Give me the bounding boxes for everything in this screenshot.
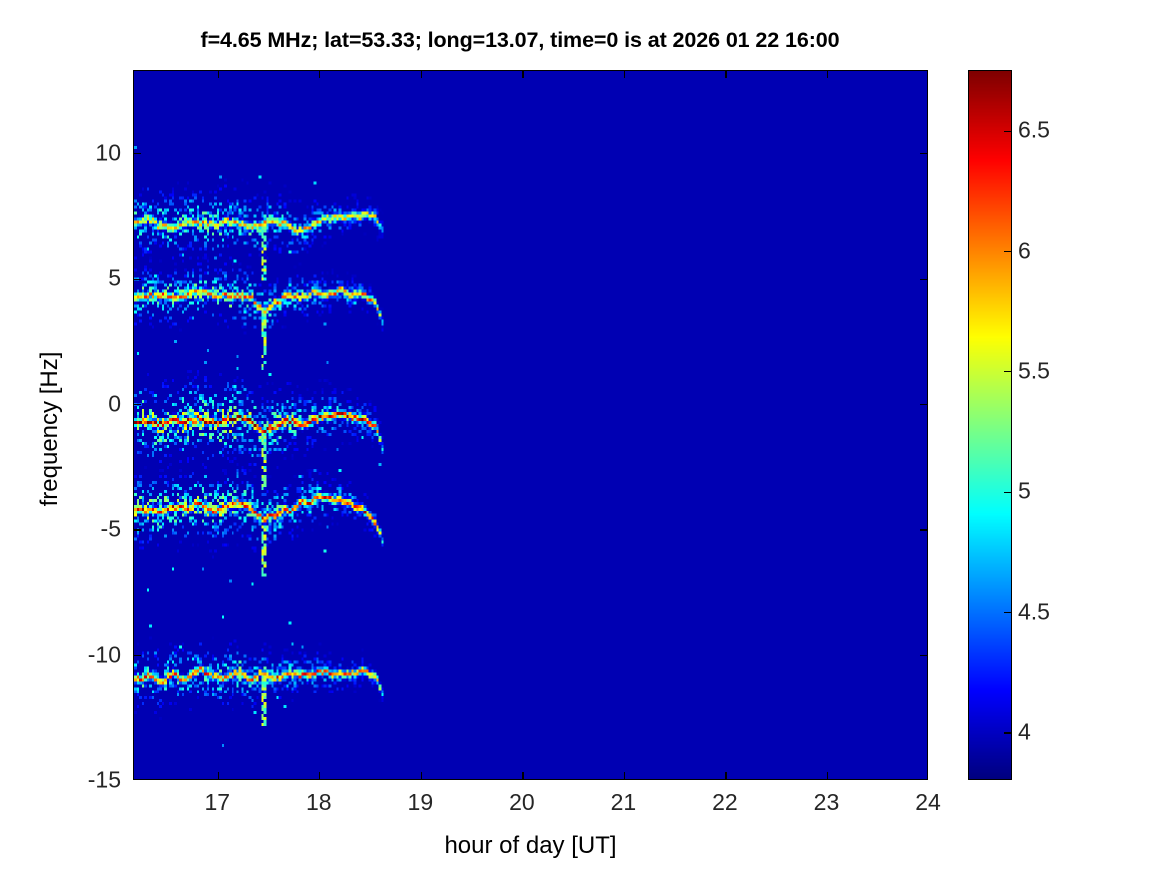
colorbar-tickmark bbox=[1004, 131, 1011, 132]
colorbar-tick-label: 4.5 bbox=[1018, 598, 1138, 625]
y-tickmark bbox=[134, 529, 141, 530]
colorbar-tick-label: 5 bbox=[1018, 478, 1138, 505]
y-tickmark bbox=[920, 153, 927, 154]
spectrogram-axes[interactable] bbox=[133, 70, 928, 780]
x-tickmark bbox=[827, 71, 828, 78]
colorbar[interactable] bbox=[968, 70, 1012, 780]
colorbar-tick-label: 6.5 bbox=[1018, 117, 1138, 144]
colorbar-tickmark bbox=[1004, 732, 1011, 733]
y-tickmark bbox=[134, 404, 141, 405]
plot-title: f=4.65 MHz; lat=53.33; long=13.07, time=… bbox=[0, 28, 1040, 53]
x-tickmark bbox=[522, 71, 523, 78]
x-tickmark bbox=[725, 772, 726, 779]
y-tickmark bbox=[920, 404, 927, 405]
colorbar-tick-label: 4 bbox=[1018, 718, 1138, 745]
y-tickmark bbox=[134, 655, 141, 656]
y-tickmark bbox=[920, 529, 927, 530]
colorbar-tickmark bbox=[1004, 251, 1011, 252]
x-tickmark bbox=[827, 772, 828, 779]
x-tick-label: 24 bbox=[868, 789, 988, 816]
x-tickmark bbox=[218, 71, 219, 78]
x-tickmark bbox=[319, 772, 320, 779]
y-tickmark bbox=[920, 655, 927, 656]
y-tickmark bbox=[134, 279, 141, 280]
colorbar-tick-label: 6 bbox=[1018, 237, 1138, 264]
spectrogram-image bbox=[134, 71, 927, 779]
x-tickmark bbox=[624, 71, 625, 78]
x-tickmark bbox=[624, 772, 625, 779]
figure-canvas: f=4.65 MHz; lat=53.33; long=13.07, time=… bbox=[0, 0, 1167, 875]
y-tickmark bbox=[920, 279, 927, 280]
colorbar-tickmark bbox=[1004, 371, 1011, 372]
colorbar-ticklabels: 44.555.566.5 bbox=[1018, 0, 1167, 875]
x-tickmark bbox=[725, 71, 726, 78]
x-tickmark bbox=[421, 772, 422, 779]
x-tickmark bbox=[218, 772, 219, 779]
y-tickmark bbox=[134, 153, 141, 154]
colorbar-gradient bbox=[969, 71, 1011, 779]
x-axis-title: hour of day [UT] bbox=[133, 832, 928, 860]
x-tickmark bbox=[319, 71, 320, 78]
x-tickmark bbox=[522, 772, 523, 779]
colorbar-tickmark bbox=[1004, 612, 1011, 613]
x-axis-ticklabels: 1718192021222324 bbox=[0, 789, 1167, 829]
x-tickmark bbox=[421, 71, 422, 78]
colorbar-tickmark bbox=[1004, 492, 1011, 493]
y-axis-title: frequency [Hz] bbox=[36, 69, 64, 789]
colorbar-tick-label: 5.5 bbox=[1018, 357, 1138, 384]
